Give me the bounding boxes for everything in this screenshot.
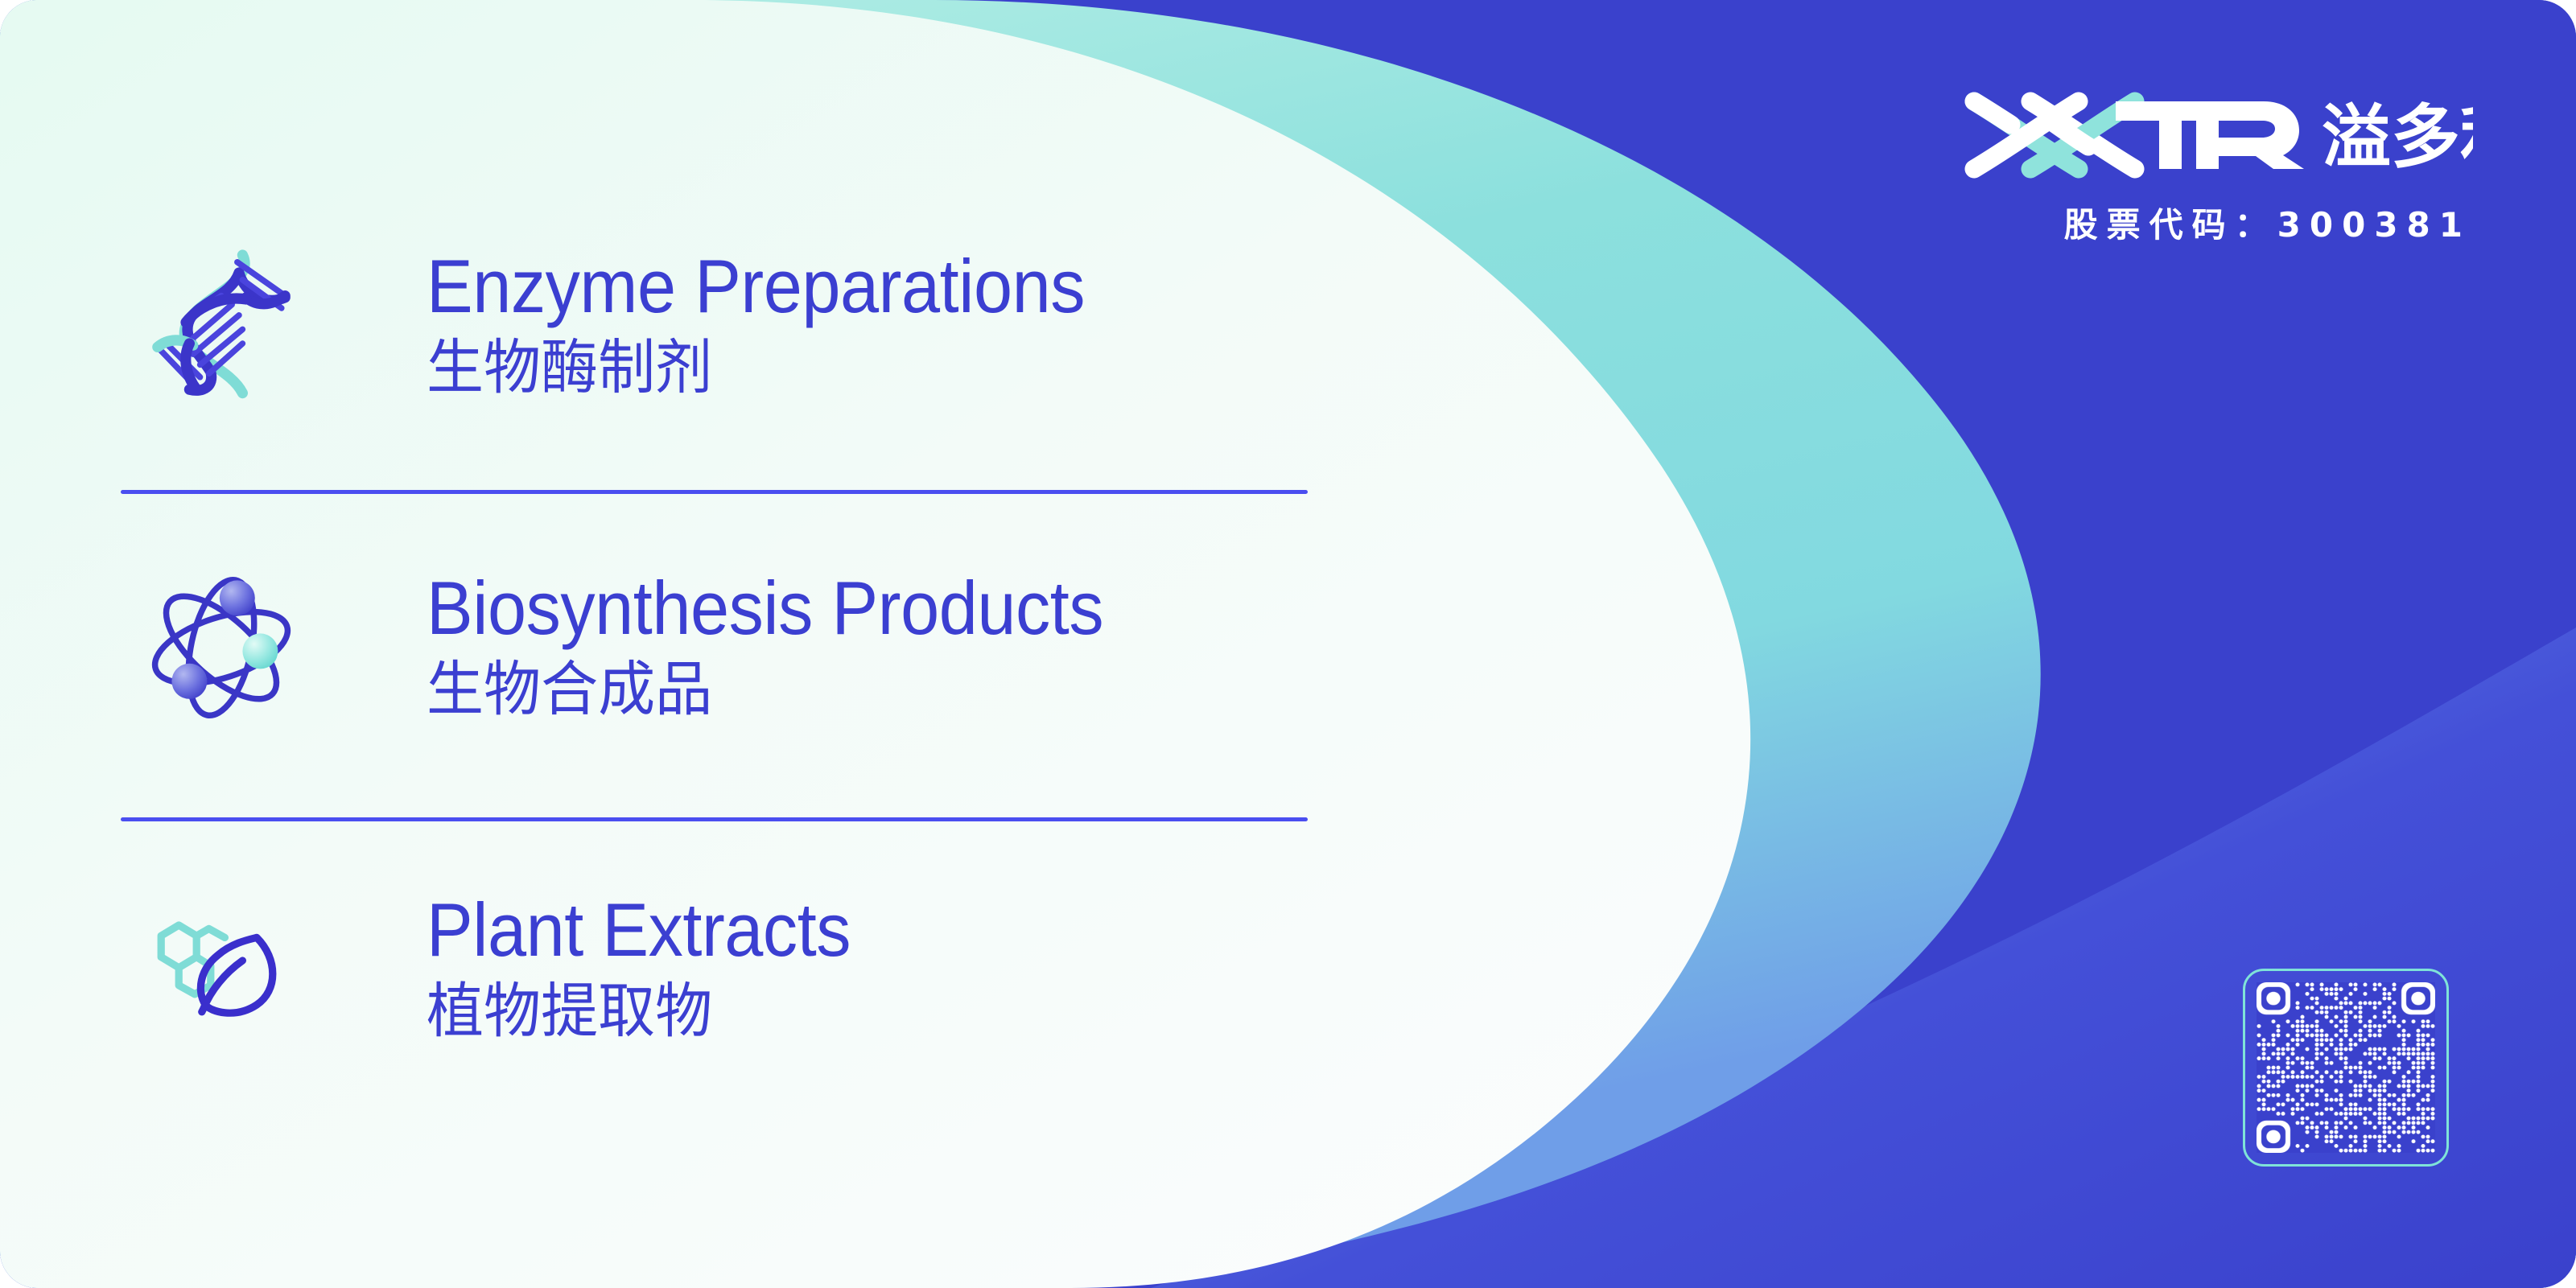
product-text: Plant Extracts 植物提取物 — [427, 891, 888, 1047]
product-text: Biosynthesis Products 生物合成品 — [427, 570, 1162, 725]
product-item-enzyme-preparations[interactable]: Enzyme Preparations 生物酶制剂 — [121, 217, 1320, 434]
dna-helix-icon — [121, 225, 322, 426]
logo-cn-text: 溢多利 — [2322, 97, 2473, 178]
qr-code[interactable] — [2243, 969, 2449, 1167]
stock-code-label: 股票代码：300381 — [1958, 198, 2473, 247]
product-title-cn: 生物合成品 — [427, 655, 1133, 725]
promo-card: Enzyme Preparations 生物酶制剂 — [0, 0, 2576, 1288]
qr-code-canvas — [2257, 982, 2435, 1153]
product-list: Enzyme Preparations 生物酶制剂 — [0, 0, 1416, 1288]
product-title-cn: 生物酶制剂 — [427, 333, 1114, 403]
atom-icon — [121, 547, 322, 748]
product-title-en: Plant Extracts — [427, 891, 851, 969]
product-item-plant-extracts[interactable]: Plant Extracts 植物提取物 — [121, 861, 1320, 1078]
product-title-en: Enzyme Preparations — [427, 248, 1085, 325]
product-title-en: Biosynthesis Products — [427, 570, 1103, 647]
divider — [121, 817, 1308, 821]
brand-block: 溢多利 股票代码：300381 — [1958, 87, 2473, 247]
divider — [121, 490, 1308, 494]
product-text: Enzyme Preparations 生物酶制剂 — [427, 248, 1142, 403]
product-title-cn: 植物提取物 — [427, 977, 869, 1047]
dna-x-logo-icon: 溢多利 — [1958, 87, 2473, 183]
product-item-biosynthesis-products[interactable]: Biosynthesis Products 生物合成品 — [121, 539, 1320, 756]
leaf-hexagon-icon — [121, 869, 322, 1070]
